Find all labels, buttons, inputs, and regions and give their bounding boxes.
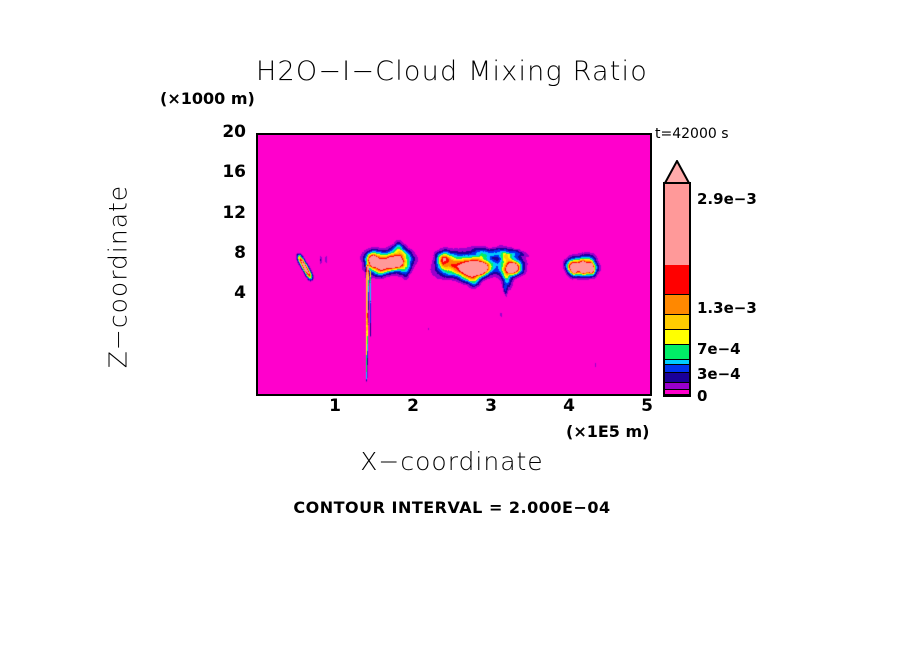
colorbar-tick-label: 3e−4: [697, 365, 741, 383]
colorbar-segment: [665, 330, 689, 345]
y-tick-label: 4: [234, 283, 246, 303]
y-tick-label: 12: [222, 203, 246, 223]
colorbar-tick-label: 0: [697, 387, 707, 405]
colorbar-segment: [665, 390, 689, 395]
colorbar-segment: [665, 383, 689, 390]
y-tick-label: 20: [222, 122, 246, 142]
colorbar-segment: [665, 295, 689, 315]
time-label: t=42000 s: [655, 126, 729, 142]
colorbar-segment: [665, 365, 689, 373]
colorbar-segment: [665, 345, 689, 360]
colorbar-tick-label: 1.3e−3: [697, 299, 757, 317]
x-tick-label: 4: [549, 396, 589, 416]
x-tick-label: 3: [471, 396, 511, 416]
x-axis-unit-label: (×1E5 m): [566, 422, 649, 441]
contour-plot-panel[interactable]: [256, 133, 652, 396]
contour-interval-caption: CONTOUR INTERVAL = 2.000E−04: [0, 498, 904, 517]
page-title: H2O−I−Cloud Mixing Ratio: [0, 56, 904, 87]
colorbar-arrow-tip-icon: [663, 160, 691, 184]
colorbar-segment: [665, 265, 689, 295]
colorbar-gradient-strip: [663, 182, 691, 397]
colorbar-tick-label: 2.9e−3: [697, 190, 757, 208]
x-tick-label: 2: [393, 396, 433, 416]
y-tick-label: 8: [234, 243, 246, 263]
colorbar[interactable]: 2.9e−31.3e−37e−43e−40: [655, 160, 785, 405]
x-axis-title: X−coordinate: [256, 447, 648, 476]
colorbar-tick-label: 7e−4: [697, 340, 741, 358]
colorbar-segment: [665, 315, 689, 330]
y-axis-tick-labels: 4 8 12 20 16: [196, 133, 246, 392]
y-axis-unit-label: (×1000 m): [160, 89, 255, 108]
x-axis-tick-labels: 1 2 3 4 5: [256, 396, 648, 422]
colorbar-segment: [665, 184, 689, 265]
y-tick-label: 16: [222, 162, 246, 182]
x-tick-label: 1: [315, 396, 355, 416]
y-axis-title: Z−coordinate: [104, 127, 133, 427]
contour-field-canvas: [258, 135, 650, 394]
colorbar-segment: [665, 373, 689, 382]
